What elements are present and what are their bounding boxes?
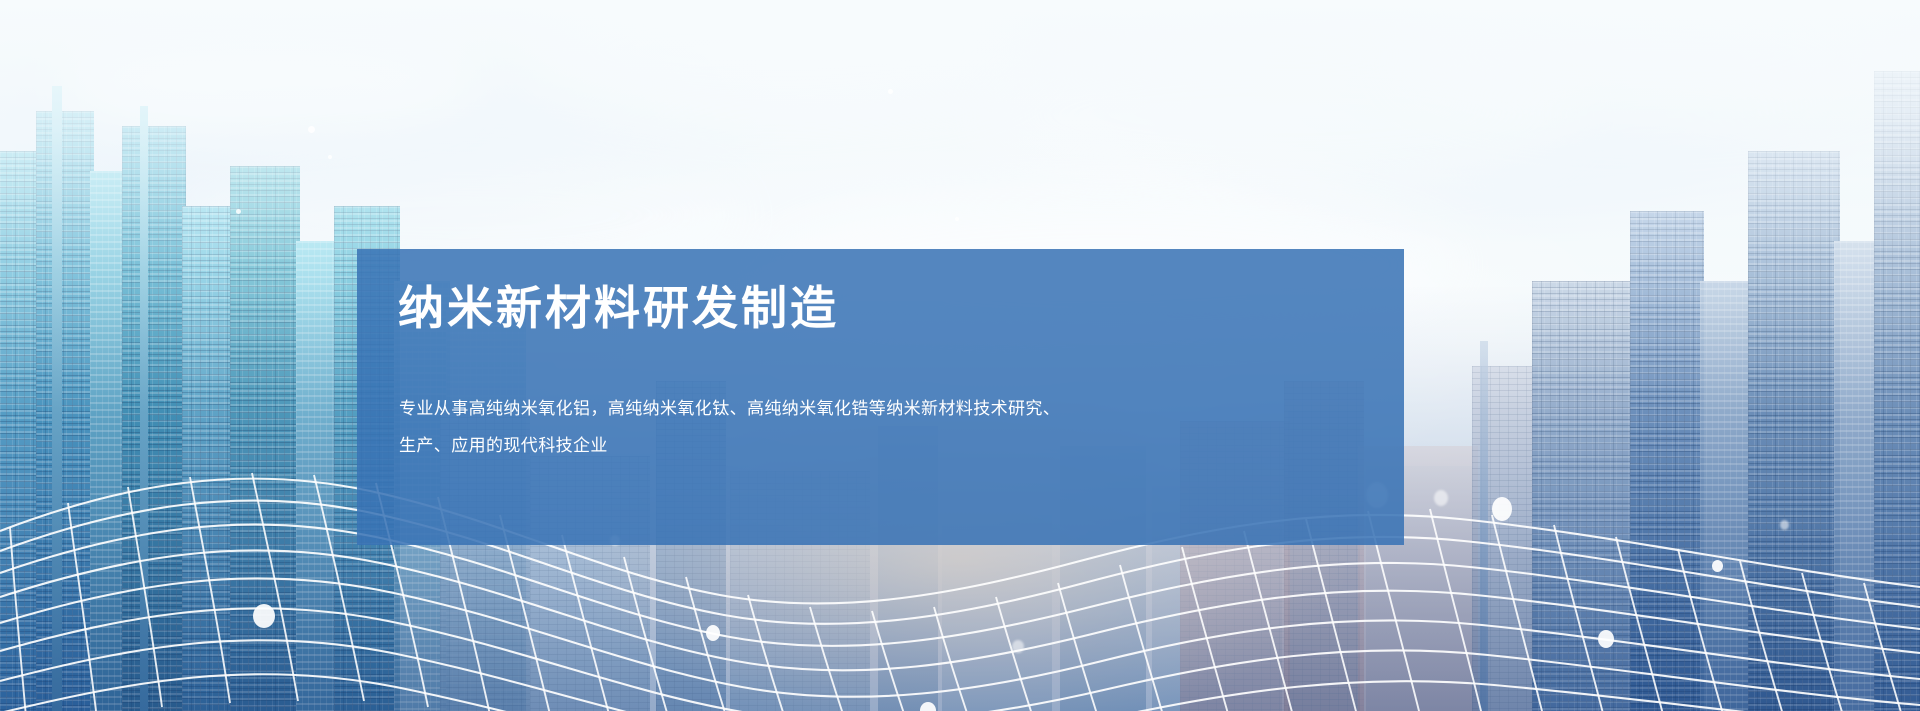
page-title: 纳米新材料研发制造 bbox=[398, 285, 839, 331]
hero-text-panel: 纳米新材料研发制造 专业从事高纯纳米氧化铝，高纯纳米氧化钛、高纯纳米氧化锆等纳米… bbox=[357, 249, 1404, 545]
subtitle-line: 生产、应用的现代科技企业 bbox=[399, 428, 1339, 465]
subtitle-line: 专业从事高纯纳米氧化铝，高纯纳米氧化钛、高纯纳米氧化锆等纳米新材料技术研究、 bbox=[399, 391, 1339, 428]
page-subtitle: 专业从事高纯纳米氧化铝，高纯纳米氧化钛、高纯纳米氧化锆等纳米新材料技术研究、 生… bbox=[399, 391, 1339, 464]
hero-banner: 纳米新材料研发制造 专业从事高纯纳米氧化铝，高纯纳米氧化钛、高纯纳米氧化锆等纳米… bbox=[0, 0, 1920, 711]
